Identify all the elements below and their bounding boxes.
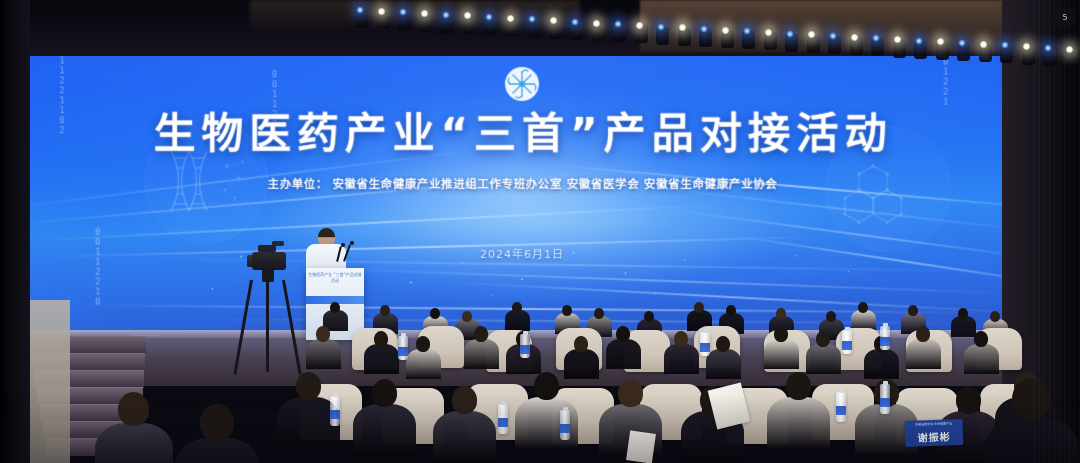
audience-person-head xyxy=(908,305,918,316)
audience-person-head xyxy=(330,302,340,313)
bottle-label xyxy=(520,345,530,354)
audience-person-head xyxy=(674,331,688,347)
audience-person-head xyxy=(974,331,988,347)
audience-person-shoulders xyxy=(964,344,999,374)
bottle-cap xyxy=(703,329,708,333)
stage-light-blue xyxy=(356,6,364,14)
audience-person-shoulders xyxy=(767,397,830,450)
audience-person-head xyxy=(958,308,968,319)
bottle-label xyxy=(498,418,508,427)
bottle-label xyxy=(700,343,710,352)
bottle-cap xyxy=(501,401,506,405)
bottle-label xyxy=(836,406,846,415)
audience-person-shoulders xyxy=(95,423,173,463)
stage-light-white xyxy=(1065,45,1074,54)
microphone-head-1 xyxy=(341,243,345,247)
digit-column-2: 00112210 xyxy=(92,228,103,308)
audience-person-head xyxy=(644,311,654,322)
audience-person-head xyxy=(618,379,643,407)
stage-light-white xyxy=(764,28,773,37)
stage-light-white xyxy=(635,21,644,30)
camera-hood xyxy=(258,245,276,252)
audience-person-head xyxy=(594,308,604,319)
stage-light-blue xyxy=(571,18,579,26)
bottle-cap xyxy=(883,381,888,385)
audience-person-head xyxy=(774,326,788,342)
audience-person-head xyxy=(776,308,786,319)
audience-person-head xyxy=(512,302,522,313)
audience-person-head xyxy=(574,336,588,352)
bottle-cap xyxy=(883,323,888,327)
audience-person-shoulders xyxy=(906,339,941,369)
bottle-cap xyxy=(845,327,850,331)
bottle-cap xyxy=(523,331,528,335)
conference-photo: 0011221102 00112210 0011221 001221 xyxy=(0,0,1080,463)
event-emblem-icon xyxy=(502,64,542,104)
placard-person-name: 谢振彬 xyxy=(905,428,963,445)
audience-person-head xyxy=(562,305,572,316)
stage-light-blue xyxy=(915,37,923,45)
audience-person-shoulders xyxy=(353,404,416,457)
audience-person-shoulders xyxy=(364,344,399,374)
stage-light-blue xyxy=(1044,44,1052,52)
hall-right-slats xyxy=(1034,0,1080,463)
stage-light-blue xyxy=(700,25,708,33)
audience-person-head xyxy=(816,331,830,347)
stage-light-white xyxy=(420,9,429,18)
audience-person-shoulders xyxy=(406,349,441,379)
audience-person-shoulders xyxy=(505,310,530,331)
audience-person-shoulders xyxy=(306,339,341,369)
audience-person-shoulders xyxy=(864,349,899,379)
audience-person-head xyxy=(474,326,488,342)
audience-person-shoulders xyxy=(951,316,976,337)
audience-person-shoulders xyxy=(564,349,599,379)
podium-label: 生物医药产业 “三首”产品对接活动 xyxy=(308,272,362,284)
bottle-label xyxy=(560,424,570,433)
stage-light-white xyxy=(506,14,515,23)
audience-person-head xyxy=(118,392,149,426)
event-main-title: 生物医药产业“三首”产品对接活动 xyxy=(24,110,1024,159)
audience-person-head xyxy=(726,305,736,316)
audience-person-head xyxy=(316,326,330,342)
stage-light-blue xyxy=(442,11,450,19)
bottle-cap xyxy=(401,333,406,337)
audience-person-head xyxy=(990,311,1000,322)
stage-light-blue xyxy=(657,23,665,31)
bottle-label xyxy=(880,337,890,346)
bottle-label xyxy=(330,410,340,419)
audience-person-shoulders xyxy=(433,411,496,463)
screen-title-block: 生物医药产业“三首”产品对接活动 主办单位： 安徽省生命健康产业推进组工作专班办… xyxy=(24,110,1024,193)
name-placard: 安徽省医学会 生命健康产业 谢振彬 xyxy=(905,419,964,447)
stage-light-row xyxy=(0,0,1080,56)
audience-person-shoulders xyxy=(464,339,499,369)
audience-person-head xyxy=(858,302,868,313)
audience-person-head xyxy=(416,336,430,352)
event-organizers: 主办单位： 安徽省生命健康产业推进组工作专班办公室 安徽省医学会 安徽省生命健康… xyxy=(24,176,1024,192)
audience-person-head xyxy=(616,326,630,342)
microphone-head-2 xyxy=(350,241,354,245)
stage-light-white xyxy=(979,40,988,49)
stage-light-blue xyxy=(786,30,794,38)
audience-person-head xyxy=(694,302,704,313)
audience-person-head xyxy=(296,372,321,400)
bottle-cap xyxy=(563,407,568,411)
audience-person-head xyxy=(462,311,472,322)
audience-person-head xyxy=(716,336,730,352)
audience-person-head xyxy=(826,311,836,322)
audience-person-head xyxy=(916,326,930,342)
audience-person-head xyxy=(372,379,397,407)
bottle-cap xyxy=(839,389,844,393)
audience-person-head xyxy=(380,305,390,316)
audience-person-head xyxy=(430,308,440,319)
bottle-label xyxy=(398,347,408,356)
camera-top-handle xyxy=(272,241,284,246)
bottle-cap xyxy=(333,393,338,397)
audience-person-head xyxy=(452,386,477,414)
stage-light-blue xyxy=(829,32,837,40)
audience-person-shoulders xyxy=(706,349,741,379)
stage-light-white xyxy=(592,19,601,28)
audience-person-shoulders xyxy=(664,344,699,374)
main-led-screen: 0011221102 00112210 0011221 001221 xyxy=(24,17,1024,337)
event-date: 2024年6月1日 xyxy=(24,246,1024,263)
audience-person-shoulders xyxy=(764,339,799,369)
handout-paper xyxy=(626,430,656,463)
audience-person-shoulders xyxy=(175,438,260,463)
stage-light-white xyxy=(721,26,730,35)
audience-person-head xyxy=(200,404,234,441)
audience-person-head xyxy=(374,331,388,347)
corner-badge: 5 xyxy=(1054,6,1076,28)
audience-person-head xyxy=(534,372,559,400)
audience-person-head xyxy=(786,372,811,400)
placard-org-line: 安徽省医学会 生命健康产业 xyxy=(905,421,963,427)
stage-light-white xyxy=(893,35,902,44)
bottle-label xyxy=(880,398,890,407)
audience-person-shoulders xyxy=(806,344,841,374)
audience-person-head xyxy=(956,386,981,414)
audience-person-shoulders xyxy=(606,339,641,369)
stage-light-white xyxy=(377,7,386,16)
stage-light-white xyxy=(850,33,859,42)
bottle-label xyxy=(842,341,852,350)
